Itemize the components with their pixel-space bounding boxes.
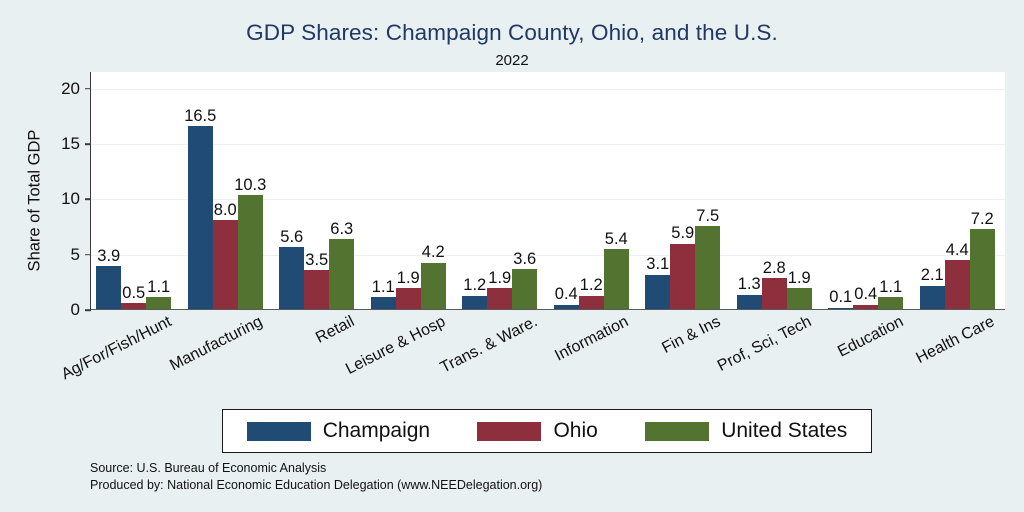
bar-group: 2.14.47.2 bbox=[920, 72, 995, 309]
y-axis-tick-mark bbox=[85, 199, 91, 201]
y-axis-tick-mark bbox=[85, 254, 91, 256]
bar[interactable]: 6.3 bbox=[329, 239, 354, 309]
bar-value-label: 1.3 bbox=[738, 276, 761, 293]
x-axis-category-label: Fin & Ins bbox=[659, 314, 723, 357]
bar-value-label: 0.1 bbox=[829, 289, 852, 306]
bar[interactable]: 0.4 bbox=[853, 305, 878, 309]
bar-value-label: 1.1 bbox=[372, 279, 395, 296]
bar[interactable]: 0.1 bbox=[828, 308, 853, 310]
bar-value-label: 5.4 bbox=[605, 231, 628, 248]
bar-value-label: 1.2 bbox=[580, 277, 603, 294]
bar-value-label: 3.9 bbox=[97, 248, 120, 265]
x-axis-category-label: Information bbox=[553, 314, 632, 365]
x-axis-category-label: Retail bbox=[313, 314, 357, 347]
bar-group: 1.11.94.2 bbox=[371, 72, 446, 309]
x-axis-category-label: Health Care bbox=[914, 314, 997, 367]
gdp-shares-bar-chart: GDP Shares: Champaign County, Ohio, and … bbox=[0, 0, 1024, 512]
bar-value-label: 8.0 bbox=[214, 202, 237, 219]
bar-value-label: 0.4 bbox=[555, 286, 578, 303]
chart-legend: ChampaignOhioUnited States bbox=[222, 409, 872, 453]
bar[interactable]: 2.8 bbox=[762, 278, 787, 309]
chart-subtitle: 2022 bbox=[0, 52, 1024, 69]
bar-group: 1.32.81.9 bbox=[737, 72, 812, 309]
legend-swatch bbox=[645, 422, 709, 441]
x-axis-category-label: Ag/For/Fish/Hunt bbox=[59, 314, 174, 383]
legend-label: United States bbox=[721, 419, 847, 443]
bar[interactable]: 7.5 bbox=[695, 226, 720, 309]
chart-footer: Source: U.S. Bureau of Economic Analysis… bbox=[90, 460, 542, 494]
bar[interactable]: 3.9 bbox=[96, 266, 121, 309]
bar-group: 0.10.41.1 bbox=[828, 72, 903, 309]
bar[interactable]: 3.1 bbox=[645, 275, 670, 309]
legend-swatch bbox=[477, 422, 541, 441]
y-axis-tick-mark bbox=[85, 309, 91, 311]
bar-group: 3.15.97.5 bbox=[645, 72, 720, 309]
bar[interactable]: 2.1 bbox=[920, 286, 945, 309]
bar-value-label: 7.5 bbox=[696, 208, 719, 225]
bar[interactable]: 1.2 bbox=[579, 296, 604, 309]
legend-label: Ohio bbox=[553, 419, 597, 443]
chart-title: GDP Shares: Champaign County, Ohio, and … bbox=[0, 20, 1024, 46]
bar[interactable]: 7.2 bbox=[970, 229, 995, 309]
bar[interactable]: 4.4 bbox=[945, 260, 970, 309]
legend-item[interactable]: Ohio bbox=[477, 419, 597, 443]
bar-value-label: 3.6 bbox=[513, 251, 536, 268]
legend-item[interactable]: United States bbox=[645, 419, 847, 443]
bar-group: 1.21.93.6 bbox=[462, 72, 537, 309]
bar-value-label: 5.9 bbox=[671, 225, 694, 242]
bar[interactable]: 0.4 bbox=[554, 305, 579, 309]
bar-group: 16.58.010.3 bbox=[188, 72, 263, 309]
legend-swatch bbox=[247, 422, 311, 441]
bar[interactable]: 1.2 bbox=[462, 296, 487, 309]
bar[interactable]: 1.1 bbox=[878, 297, 903, 309]
bar[interactable]: 5.6 bbox=[279, 247, 304, 309]
bar-value-label: 7.2 bbox=[971, 211, 994, 228]
bar[interactable]: 1.1 bbox=[371, 297, 396, 309]
bar-value-label: 1.9 bbox=[397, 270, 420, 287]
bar-value-label: 1.2 bbox=[463, 277, 486, 294]
bar-value-label: 0.4 bbox=[854, 286, 877, 303]
bar-group: 5.63.56.3 bbox=[279, 72, 354, 309]
bar-value-label: 3.1 bbox=[646, 256, 669, 273]
bar[interactable]: 5.9 bbox=[670, 244, 695, 309]
legend-item[interactable]: Champaign bbox=[247, 419, 430, 443]
legend-label: Champaign bbox=[323, 419, 430, 443]
bar-value-label: 4.2 bbox=[422, 244, 445, 261]
footer-produced-by: Produced by: National Economic Education… bbox=[90, 477, 542, 494]
bar-group: 3.90.51.1 bbox=[96, 72, 171, 309]
y-axis-tick-mark bbox=[85, 143, 91, 145]
bar[interactable]: 3.6 bbox=[512, 269, 537, 309]
bar[interactable]: 1.9 bbox=[487, 288, 512, 309]
bar[interactable]: 1.9 bbox=[787, 288, 812, 309]
bar[interactable]: 8.0 bbox=[213, 220, 238, 309]
bar-value-label: 1.1 bbox=[147, 279, 170, 296]
bar[interactable]: 16.5 bbox=[188, 126, 213, 309]
footer-source: Source: U.S. Bureau of Economic Analysis bbox=[90, 460, 542, 477]
bar-value-label: 0.5 bbox=[122, 285, 145, 302]
bar[interactable]: 1.1 bbox=[146, 297, 171, 309]
bar-value-label: 2.1 bbox=[921, 267, 944, 284]
bar-group: 0.41.25.4 bbox=[554, 72, 629, 309]
bar-value-label: 1.9 bbox=[788, 270, 811, 287]
bar-value-label: 4.4 bbox=[946, 242, 969, 259]
bar[interactable]: 10.3 bbox=[238, 195, 263, 309]
bar[interactable]: 5.4 bbox=[604, 249, 629, 309]
bar-value-label: 10.3 bbox=[234, 177, 266, 194]
bar-value-label: 6.3 bbox=[330, 221, 353, 238]
x-axis-category-label: Leisure & Hosp bbox=[344, 314, 449, 378]
bar-value-label: 1.9 bbox=[488, 270, 511, 287]
bar-value-label: 2.8 bbox=[763, 260, 786, 277]
bar[interactable]: 3.5 bbox=[304, 270, 329, 309]
bar[interactable]: 4.2 bbox=[421, 263, 446, 309]
bar-value-label: 16.5 bbox=[184, 108, 216, 125]
x-axis-category-label: Trans. & Ware. bbox=[438, 314, 540, 377]
bar-value-label: 5.6 bbox=[280, 229, 303, 246]
x-axis-category-label: Manufacturing bbox=[168, 314, 266, 374]
x-axis-category-label: Prof, Sci, Tech bbox=[716, 314, 815, 375]
y-axis-tick-mark bbox=[85, 88, 91, 90]
plot-area: Share of Total GDP 051015203.90.51.116.5… bbox=[90, 72, 1005, 310]
bar[interactable]: 0.5 bbox=[121, 303, 146, 309]
x-axis-category-label: Education bbox=[835, 314, 906, 361]
bar[interactable]: 1.9 bbox=[396, 288, 421, 309]
bar[interactable]: 1.3 bbox=[737, 295, 762, 309]
y-axis-title: Share of Total GDP bbox=[26, 85, 45, 315]
bar-value-label: 1.1 bbox=[879, 279, 902, 296]
bar-value-label: 3.5 bbox=[305, 252, 328, 269]
